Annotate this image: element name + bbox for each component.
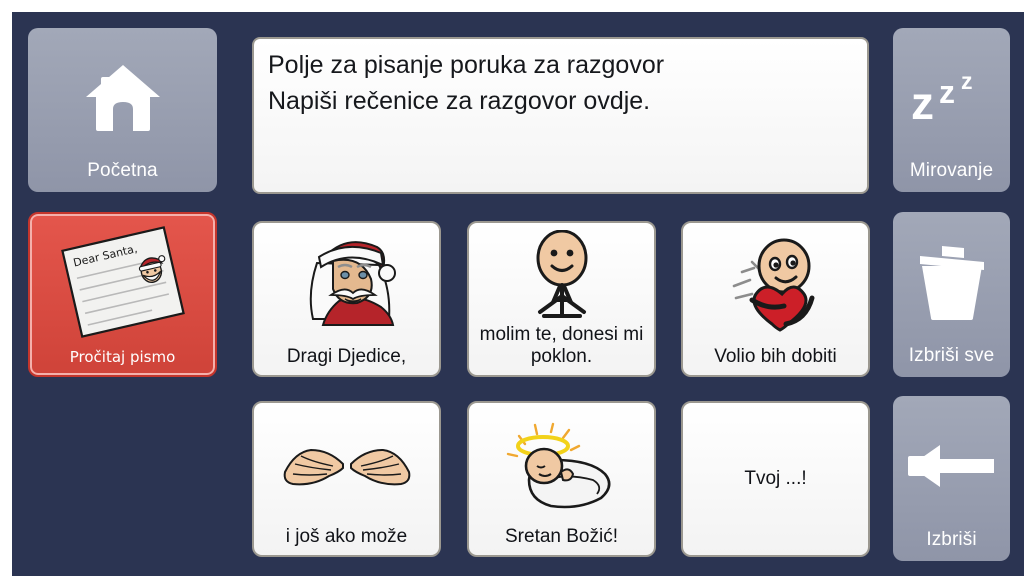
svg-text:z: z bbox=[911, 77, 934, 127]
backspace-button[interactable]: Izbriši bbox=[893, 396, 1010, 561]
clear-all-button[interactable]: Izbriši sve bbox=[893, 212, 1010, 377]
cell-read-letter-label: Pročitaj pismo bbox=[30, 346, 215, 375]
svg-text:z: z bbox=[939, 74, 955, 110]
hands-more-icon bbox=[254, 403, 439, 526]
aac-board: Početna Polje za pisanje poruka za razgo… bbox=[12, 12, 1024, 576]
backspace-icon bbox=[893, 396, 1010, 529]
hug-heart-icon bbox=[683, 223, 868, 346]
cell-dear-santa-label: Dragi Djedice, bbox=[254, 346, 439, 375]
sentence-bar-line-1: Polje za pisanje poruka za razgovor bbox=[268, 47, 853, 83]
backspace-button-label: Izbriši bbox=[926, 529, 976, 561]
cell-merry-christmas[interactable]: Sretan Božić! bbox=[467, 401, 656, 557]
board-grid: Početna Polje za pisanje poruka za razgo… bbox=[12, 12, 1024, 576]
home-button[interactable]: Početna bbox=[28, 28, 217, 192]
svg-text:z: z bbox=[961, 68, 973, 94]
cell-please-gift[interactable]: molim te, donesi mi poklon. bbox=[467, 221, 656, 377]
cell-dear-santa[interactable]: Dragi Djedice, bbox=[252, 221, 441, 377]
home-button-label: Početna bbox=[87, 160, 157, 192]
cell-read-letter[interactable]: Dear Santa, bbox=[28, 212, 217, 377]
sleep-zzz-icon: z z z bbox=[893, 28, 1010, 160]
sleep-button-label: Mirovanje bbox=[910, 160, 993, 192]
santa-letter-icon: Dear Santa, bbox=[30, 214, 215, 346]
cell-and-more-label: i još ako može bbox=[254, 526, 439, 555]
cell-please-gift-label: molim te, donesi mi poklon. bbox=[469, 324, 654, 375]
cell-and-more[interactable]: i još ako može bbox=[252, 401, 441, 557]
cell-yours-label: Tvoj ...! bbox=[683, 468, 868, 490]
sentence-bar[interactable]: Polje za pisanje poruka za razgovor Napi… bbox=[252, 37, 869, 194]
sleep-button[interactable]: z z z Mirovanje bbox=[893, 28, 1010, 192]
clear-all-button-label: Izbriši sve bbox=[909, 345, 995, 377]
sentence-bar-line-2: Napiši rečenice za razgovor ovdje. bbox=[268, 83, 853, 119]
stickman-please-icon bbox=[469, 223, 654, 324]
home-icon bbox=[28, 28, 217, 160]
cell-would-like[interactable]: Volio bih dobiti bbox=[681, 221, 870, 377]
cell-merry-christmas-label: Sretan Božić! bbox=[469, 526, 654, 555]
cell-yours[interactable]: Tvoj ...! bbox=[681, 401, 870, 557]
cell-would-like-label: Volio bih dobiti bbox=[683, 346, 868, 375]
santa-face-icon bbox=[254, 223, 439, 346]
baby-jesus-icon bbox=[469, 403, 654, 526]
trash-icon bbox=[893, 212, 1010, 345]
